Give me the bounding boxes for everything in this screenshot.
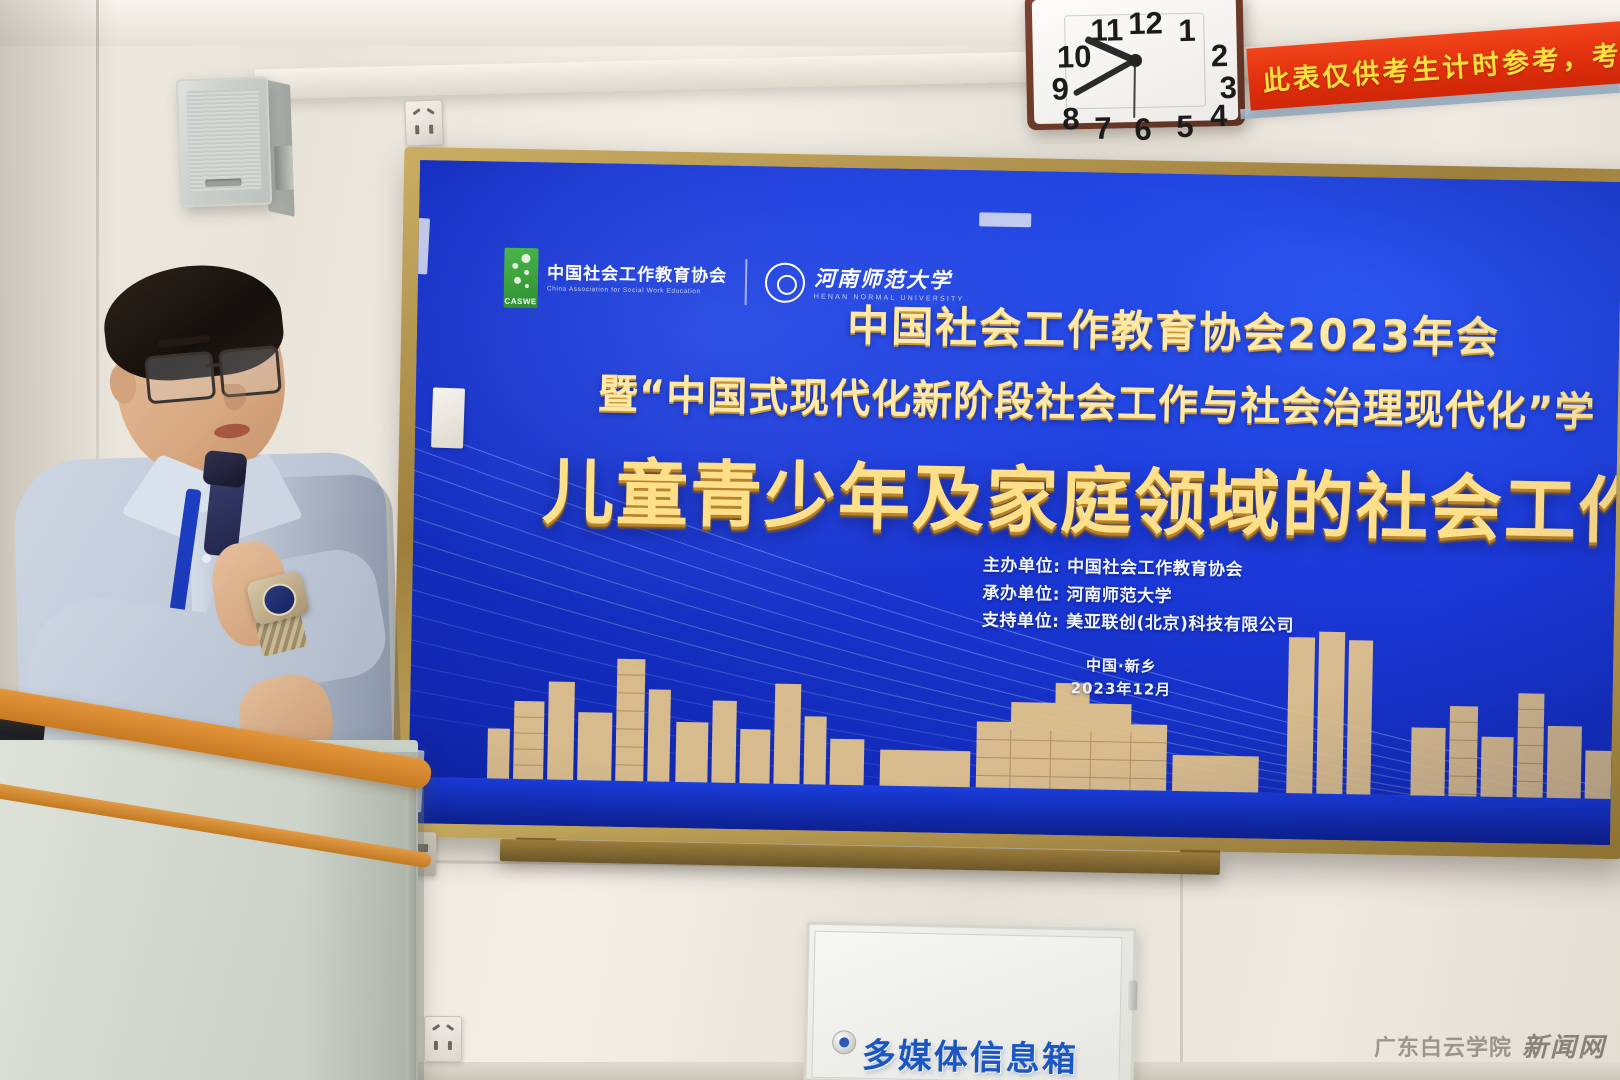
microphone-head-icon [202, 450, 247, 488]
clock-numeral-8: 8 [1062, 103, 1080, 134]
clock-center-pin [1128, 53, 1141, 66]
power-socket-icon [404, 99, 444, 146]
glasses-lens-left [144, 351, 216, 405]
clock-numeral-9: 9 [1051, 73, 1069, 104]
display-screen[interactable]: CASWE 中国社会工作教育协会 China Association for S… [408, 160, 1620, 845]
multimedia-info-box[interactable]: 多媒体信息箱 [803, 922, 1136, 1080]
multimedia-box-label: 多媒体信息箱 [861, 1028, 1078, 1080]
clock-numeral-2: 2 [1211, 40, 1229, 71]
clock-numeral-7: 7 [1094, 113, 1112, 144]
clock-numeral-1: 1 [1178, 15, 1196, 46]
power-socket-lower-icon [424, 1016, 462, 1062]
slide-vignette [408, 160, 1620, 845]
speaker-port [205, 178, 241, 186]
clock-numeral-12: 12 [1128, 7, 1163, 39]
speaker-bracket [274, 146, 294, 191]
wall-speaker [176, 76, 272, 207]
presentation-display[interactable]: CASWE 中国社会工作教育协会 China Association for S… [392, 147, 1620, 859]
presenter-nose [224, 384, 246, 410]
watermark: 广东白云学院 新闻网 [1374, 1027, 1606, 1064]
photo-scene: 12 1 2 3 4 5 6 7 8 9 10 11 此表仅供考生计时参考，考试 [0, 0, 1620, 1080]
speaker-grille [186, 89, 261, 191]
clock-face: 12 1 2 3 4 5 6 7 8 9 10 11 [1032, 0, 1239, 124]
wall-note-card [431, 387, 465, 448]
lectern [0, 704, 418, 1080]
watermark-site: 新闻网 [1522, 1027, 1606, 1064]
multimedia-box-hinge [1128, 980, 1138, 1010]
conference-slide: CASWE 中国社会工作教育协会 China Association for S… [408, 160, 1620, 845]
bezel-tape-top [979, 212, 1031, 227]
clock-numeral-4: 4 [1210, 100, 1228, 131]
clock-numeral-5: 5 [1176, 111, 1194, 142]
speaker-front [176, 76, 272, 207]
clock-numeral-6: 6 [1134, 114, 1152, 145]
watermark-institution: 广东白云学院 [1374, 1030, 1512, 1062]
wall-clock: 12 1 2 3 4 5 6 7 8 9 10 11 [1025, 0, 1246, 130]
lectern-right-edge [406, 768, 416, 1080]
clock-numeral-10: 10 [1057, 41, 1092, 73]
shirt-button [202, 554, 211, 563]
